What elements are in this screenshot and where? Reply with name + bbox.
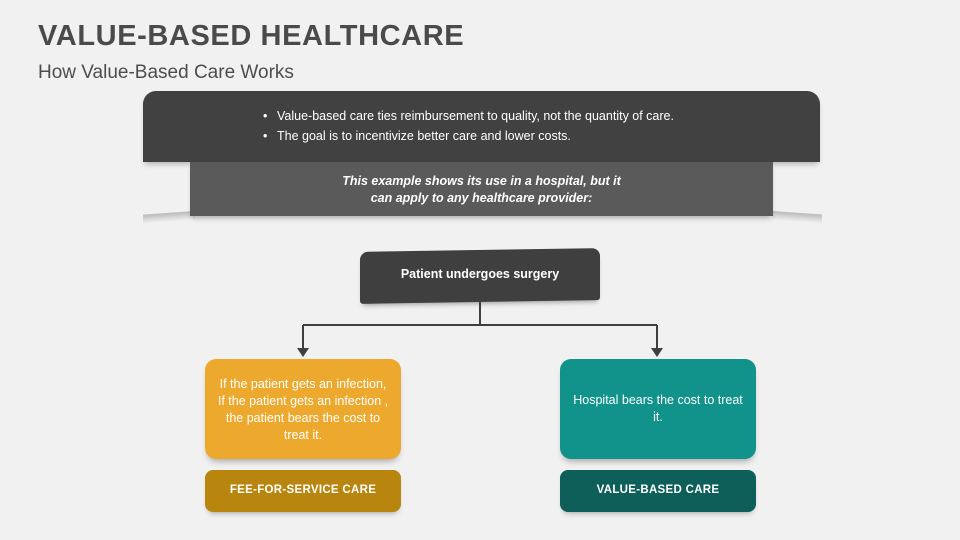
banner-text: This example shows its use in a hospital… xyxy=(190,173,773,207)
banner-line-2: can apply to any healthcare provider: xyxy=(190,190,773,207)
bullet-dot-icon: • xyxy=(263,106,267,126)
banner-line-1: This example shows its use in a hospital… xyxy=(342,174,621,188)
banner-wing-right xyxy=(772,211,822,223)
bullet-dot-icon: • xyxy=(263,126,267,146)
banner-wing-left xyxy=(143,211,195,224)
bullet-text: The goal is to incentivize better care a… xyxy=(277,129,571,143)
page-subtitle: How Value-Based Care Works xyxy=(38,62,294,84)
bullet-text: Value-based care ties reimbursement to q… xyxy=(277,109,674,123)
flow-node-root[interactable]: Patient undergoes surgery xyxy=(360,248,600,304)
bullet-list: • Value-based care ties reimbursement to… xyxy=(263,106,674,146)
outcome-card-value-based[interactable]: Hospital bears the cost to treat it. xyxy=(560,359,756,459)
outcome-card-value-based-text: Hospital bears the cost to treat it. xyxy=(570,392,746,426)
context-banner: This example shows its use in a hospital… xyxy=(190,162,773,216)
page-title: VALUE-BASED HEALTHCARE xyxy=(38,20,464,53)
flow-node-root-label: Patient undergoes surgery xyxy=(360,267,600,281)
banner-group: This example shows its use in a hospital… xyxy=(143,162,820,224)
outcome-label-fee-for-service[interactable]: FEE-FOR-SERVICE CARE xyxy=(205,470,401,512)
slide-canvas: VALUE-BASED HEALTHCARE How Value-Based C… xyxy=(0,0,960,540)
outcome-card-fee-for-service-text: If the patient gets an infection, If the… xyxy=(215,376,391,444)
outcome-label-value-based-text: VALUE-BASED CARE xyxy=(560,484,756,496)
bullet-panel: • Value-based care ties reimbursement to… xyxy=(143,91,820,162)
arrowhead-left-icon xyxy=(297,348,309,357)
outcome-label-fee-for-service-text: FEE-FOR-SERVICE CARE xyxy=(205,484,401,496)
list-item: • The goal is to incentivize better care… xyxy=(263,126,674,146)
outcome-label-value-based[interactable]: VALUE-BASED CARE xyxy=(560,470,756,512)
list-item: • Value-based care ties reimbursement to… xyxy=(263,106,674,126)
arrowhead-right-icon xyxy=(651,348,663,357)
outcome-card-fee-for-service[interactable]: If the patient gets an infection, If the… xyxy=(205,359,401,459)
